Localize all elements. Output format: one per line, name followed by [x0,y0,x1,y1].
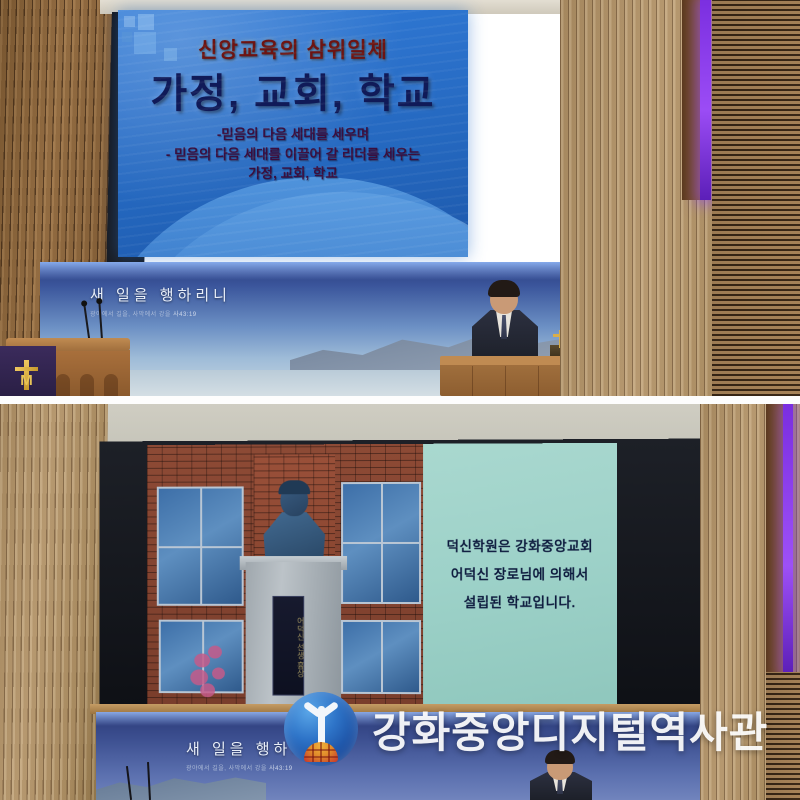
slide-photo-half: 어덕신 선생 흉상 [147,444,423,706]
window-mullion [381,622,383,692]
pulpit-arch [56,374,70,396]
pulpit-seam [538,366,539,396]
pulpit-left: M [0,338,130,396]
banner-scripture-reference: 사43:19 [269,766,293,772]
wood-grill-panel [712,0,800,396]
photo-top-sanctuary: 신앙교육의 삼위일체 가정, 교회, 학교 -믿음의 다음 세대를 세우며 - … [0,0,800,396]
memorial-plaque: 어덕신 선생 흉상 [272,596,304,696]
microphone-head [81,300,88,307]
banner-subtitle: 광야에서 길을, 사막에서 강을 사43:19 [186,763,327,772]
banner-text-wrap: 새 일을 행하리니 광야에서 길을, 사막에서 강을 사43:19 [90,284,231,318]
banner-title: 새 일을 행하리니 [186,738,327,759]
slide-swoosh-shape [118,177,468,257]
building-window [341,482,421,604]
building-window [157,486,244,605]
bronze-bust-statue [264,482,326,566]
panel-divider [0,396,800,404]
screenshot-canvas: 신앙교육의 삼위일체 가정, 교회, 학교 -믿음의 다음 세대를 세우며 - … [0,0,800,800]
bust-hair [278,480,310,494]
slide-main-title: 가정, 교회, 학교 [118,74,468,114]
banner-scripture-reference: 사43:19 [173,312,197,318]
slide-text-block: 신앙교육의 삼위일체 가정, 교회, 학교 -믿음의 다음 세대를 세우며 - … [118,40,468,184]
wood-grill-panel [766,672,800,800]
pulpit-arch [80,374,94,396]
projection-slide-deoksin: 어덕신 선생 흉상 덕신학원은 강화중앙교회 어덕신 장로님에 의해서 설립된 … [147,443,617,707]
slide-text-line-2: 어덕신 장로님에 의해서 [447,561,594,589]
gold-cross-emblem: M [12,360,40,390]
blossom-cluster [208,646,222,659]
banner-subtitle: 광야에서 길을, 사막에서 강을 사43:19 [90,309,231,318]
speaker-figure [528,752,596,800]
slide-subtitle-line-3: 가정, 교회, 학교 [118,164,468,184]
pink-blossom-tree [190,644,251,702]
cross-monogram: M [12,373,41,388]
stage-backdrop-banner: 새 일을 행하리니 광야에서 길을, 사막에서 강을 사43:19 [96,712,716,800]
plaque-inscription: 어덕신 선생 흉상 [273,603,305,691]
speaker-hair [545,750,575,764]
projection-slide-trinity: 신앙교육의 삼위일체 가정, 교회, 학교 -믿음의 다음 세대를 세우며 - … [118,10,468,257]
banner-subtitle-text: 광야에서 길을, 사막에서 강을 [186,766,267,772]
slide-text-line-1: 덕신학원은 강화중앙교회 [447,533,594,561]
purple-led-strip [783,404,793,674]
slide-text-lines: 덕신학원은 강화중앙교회 어덕신 장로님에 의해서 설립된 학교입니다. [447,533,594,617]
purple-led-strip [700,0,711,200]
slide-subtitle-block: -믿음의 다음 세대를 세우며 - 믿음의 다음 세대를 이끌어 갈 리더를 세… [118,125,468,184]
pulpit-seam [472,366,473,396]
slide-text-half: 덕신학원은 강화중앙교회 어덕신 장로님에 의해서 설립된 학교입니다. [423,443,617,707]
slide-subtitle-line-2: - 믿음의 다음 세대를 이끌어 갈 리더를 세우는 [118,145,468,165]
speaker-hair [488,280,520,297]
banner-subtitle-text: 광야에서 길을, 사막에서 강을 [90,312,171,318]
slide-heading: 신앙교육의 삼위일체 [118,40,468,61]
banner-top-light-glow [96,712,716,726]
banner-title: 새 일을 행하리니 [90,284,231,305]
led-recess-channel [682,0,702,200]
window-mullion [200,489,202,604]
blossom-cluster [200,683,215,697]
window-mullion [381,484,383,602]
blossom-cluster [212,667,225,679]
slide-decor-square [138,14,154,30]
slide-subtitle-line-1: -믿음의 다음 세대를 세우며 [118,125,468,145]
pulpit-cloth: M [0,346,56,396]
photo-bottom-sanctuary: 어덕신 선생 흉상 덕신학원은 강화중앙교회 어덕신 장로님에 의해서 설립된 … [0,404,800,800]
blossom-cluster [194,653,210,667]
building-window [341,620,421,694]
pulpit-arch [104,374,118,396]
wood-slat-wall-left [0,404,108,800]
banner-top-light-glow [40,262,620,280]
slide-text-line-3: 설립된 학교입니다. [447,589,594,617]
led-recess-channel [766,404,784,674]
pulpit-seam [505,366,506,396]
banner-text-wrap: 새 일을 행하리니 광야에서 길을, 사막에서 강을 사43:19 [186,738,327,772]
pulpit-right [440,356,570,396]
cross-horizontal [15,367,38,371]
slide-decor-square [124,16,135,27]
speaker-figure [470,282,542,360]
